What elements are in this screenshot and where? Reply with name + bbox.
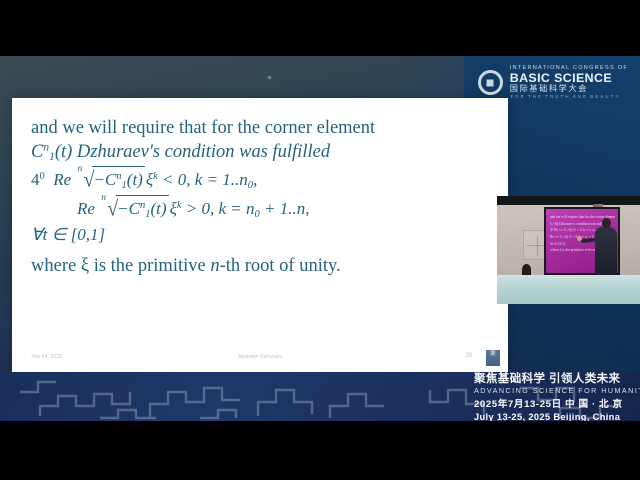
nth-root-icon: n√−Cn1(t) [100,194,168,223]
relation-3-end: , [253,170,257,189]
slide-number: 29 [465,353,472,359]
slide-line-3: 40 Re n√−Cn1(t) ξk < 0, k = 1..n0, [31,165,494,194]
xi-symbol: ξ [170,199,177,218]
banner-english-slogan: ADVANCING SCIENCE FOR HUMANITY [474,386,634,396]
radicand-base: −C [93,170,116,189]
relation-4-tail: + 1..n, [260,199,310,218]
root-degree: n [77,163,82,176]
banner-chinese-slogan: 聚焦基础科学 引领人类未来 [474,373,634,386]
slide-line-6-n: n [210,256,219,276]
logo-line-basic-science: BASIC SCIENCE [510,72,628,85]
congress-logo: INTERNATIONAL CONGRESS OF BASIC SCIENCE … [478,66,628,99]
radicand: −Cn1(t) [116,195,168,223]
xi-superscript: k [177,200,182,211]
root-degree: n [101,192,106,205]
condition-label: 4 [31,170,40,189]
speaker-body [595,227,617,275]
speaker-video-inset: and we will require that for the corner … [497,196,640,304]
slide-line-1: and we will require that for the corner … [31,116,494,140]
slide-line-2-rest: (t) Dzhuraev's condition was fulfilled [55,142,330,162]
symbol-C: C [31,142,43,162]
radicand-tail: (t) [127,170,143,189]
radical-sign-icon: √ [107,194,118,225]
slide-corner-logo-glyph: 聚 [486,350,500,357]
background-glow-dot [268,76,271,79]
front-desk [497,275,640,304]
speaker-hand [577,236,582,241]
slide-corner-logo-icon: 聚 [486,350,500,366]
slide-line-4: Re n√−Cn1(t) ξk > 0, k = n0 + 1..n, [31,194,494,223]
radical-sign-icon: √ [83,165,94,196]
slide-footer-author: Abubakir Dzhuraev [12,354,508,360]
congress-ring-icon [478,70,503,95]
slide-line-6-b: -th root of unity. [220,256,341,276]
speaker-head [602,218,611,228]
slide-line-5: ∀t ∈ [0,1] [31,223,494,247]
relation-3: < 0, k = 1..n [162,170,248,189]
audience-member [522,264,531,275]
letterbox-bottom [0,421,640,480]
slide-line-6: where ξ is the primitive n-th root of un… [31,254,494,278]
radicand-base: −C [117,199,140,218]
condition-label-superscript: 0 [40,171,45,182]
congress-logo-wordmark: INTERNATIONAL CONGRESS OF BASIC SCIENCE … [510,66,628,99]
slide-line-2: Cn1(t) Dzhuraev's condition was fulfille… [31,140,494,165]
slide-footer: July 24, 2025 Abubakir Dzhuraev 29 聚 [12,352,508,364]
re-operator: Re [53,170,71,189]
re-operator: Re [77,199,95,218]
slide-line-6-a: where ξ is the primitive [31,256,210,276]
nth-root-icon: n√−Cn1(t) [76,165,144,194]
presentation-slide: and we will require that for the corner … [12,98,508,372]
video-stage: INTERNATIONAL CONGRESS OF BASIC SCIENCE … [0,0,640,480]
congress-banner-text: 聚焦基础科学 引领人类未来 ADVANCING SCIENCE FOR HUMA… [474,373,634,423]
banner-chinese-date: 2025年7月13-25日 中 国 · 北 京 [474,398,634,411]
relation-4: > 0, k = n [186,199,255,218]
slide-content: and we will require that for the corner … [31,116,494,278]
letterbox-top [0,0,640,56]
logo-line-tagline: ＦＯＲ ＴＨＥ ＴＲＵＴＨ ＡＮＤ ＢＥＡＵＴＹ [510,95,628,99]
logo-line-chinese: 国际基础科学大会 [510,85,628,94]
xi-superscript: k [153,171,158,182]
radicand-tail: (t) [151,199,167,218]
lecture-room-ceiling [497,196,640,205]
radicand: −Cn1(t) [92,166,144,194]
